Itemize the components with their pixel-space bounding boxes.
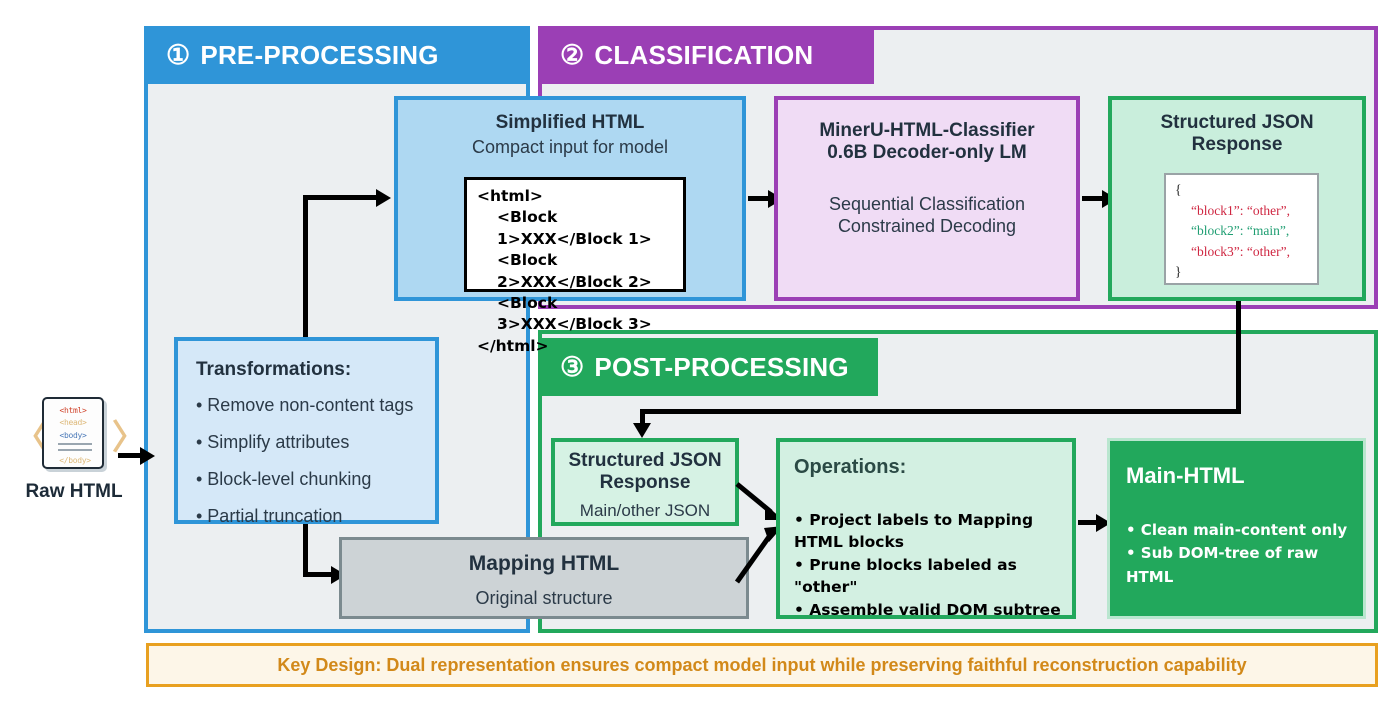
json-title-line2: Response <box>1112 134 1362 156</box>
json-value: “main”, <box>1247 223 1289 238</box>
connector-transform-to-simplified-arrowhead <box>376 189 391 207</box>
transformations-item: • Remove non-content tags <box>196 395 419 416</box>
section-number-icon: ① <box>166 42 190 69</box>
operations-item: • Prune blocks labeled as "other" <box>794 554 1062 599</box>
raw-doc-line-head: <head> <box>44 417 102 429</box>
json-line: “block2”: “main”, <box>1175 221 1311 242</box>
json-key: “block1”: <box>1191 203 1243 218</box>
raw-html-label: Raw HTML <box>12 481 136 503</box>
code-line: </html> <box>477 336 675 357</box>
simplified-html-code-block: <html> <Block 1>XXX</Block 1> <Block 2>X… <box>464 177 686 292</box>
json-line-open-brace: { <box>1175 180 1311 201</box>
raw-doc-rule-1 <box>58 443 92 445</box>
mapping-html-subtitle: Original structure <box>342 588 746 610</box>
code-line: <html> <box>477 186 675 207</box>
transformations-item: • Simplify attributes <box>196 432 419 453</box>
operations-card: Operations: • Project labels to Mapping … <box>776 438 1076 619</box>
operations-item: • Assemble valid DOM subtree <box>794 599 1062 621</box>
operations-item: • Project labels to Mapping HTML blocks <box>794 509 1062 554</box>
json-line: “block3”: “other”, <box>1175 242 1311 263</box>
operations-title: Operations: <box>794 456 1062 479</box>
code-line: <Block 1>XXX</Block 1> <box>477 207 675 250</box>
simplified-html-title: Simplified HTML <box>398 112 742 134</box>
json-key: “block2”: <box>1191 223 1243 238</box>
connector-transform-to-mapping-vertical <box>303 524 308 577</box>
section-title-pre: PRE-PROCESSING <box>200 40 438 71</box>
section-header-classification: ② CLASSIFICATION <box>538 26 874 84</box>
raw-doc-rule-2 <box>58 449 92 451</box>
section-header-pre-processing: ① PRE-PROCESSING <box>144 26 530 84</box>
classifier-subtitle-line1: Sequential Classification <box>778 194 1076 216</box>
classifier-title-line2: 0.6B Decoder-only LM <box>778 142 1076 164</box>
classifier-subtitle-line2: Constrained Decoding <box>778 216 1076 238</box>
connector-json-to-post-horizontal <box>640 409 1241 414</box>
transformations-item: • Block-level chunking <box>196 469 419 490</box>
connector-transform-to-simplified-vertical <box>303 195 308 337</box>
json-value: “other”, <box>1247 203 1290 218</box>
simplified-html-card: Simplified HTML Compact input for model … <box>394 96 746 301</box>
main-html-list: • Clean main-content only • Sub DOM-tree… <box>1126 519 1353 589</box>
section-title-classification: CLASSIFICATION <box>594 40 813 71</box>
classifier-title-line1: MinerU-HTML-Classifier <box>778 120 1076 142</box>
json-title-line1: Structured JSON <box>1112 112 1362 134</box>
transformations-title: Transformations: <box>196 359 419 381</box>
json-key: “block3”: <box>1191 244 1243 259</box>
structured-json-response-post-card: Structured JSON Response Main/other JSON <box>551 438 739 526</box>
main-html-card: Main-HTML • Clean main-content only • Su… <box>1107 438 1366 619</box>
raw-doc-line-body: <body> <box>44 430 102 442</box>
diagram-canvas: ① PRE-PROCESSING ② CLASSIFICATION ③ POST… <box>0 0 1386 709</box>
classifier-card: MinerU-HTML-Classifier 0.6B Decoder-only… <box>774 96 1080 301</box>
transformations-card: Transformations: • Remove non-content ta… <box>174 337 439 524</box>
json2-title-line2: Response <box>555 472 735 494</box>
main-html-item: • Clean main-content only <box>1126 519 1353 542</box>
json-value: “other”, <box>1247 244 1290 259</box>
connector-json-to-post-arrowhead <box>633 423 651 438</box>
code-line: <Block 3>XXX</Block 3> <box>477 293 675 336</box>
main-html-item: • Sub DOM-tree of raw HTML <box>1126 542 1353 589</box>
operations-list: • Project labels to Mapping HTML blocks … <box>794 509 1062 621</box>
mapping-html-title: Mapping HTML <box>342 552 746 576</box>
connector-transform-to-mapping-horizontal <box>303 572 333 577</box>
json2-subtitle: Main/other JSON <box>555 501 735 521</box>
raw-doc-line-html: <html> <box>44 405 102 417</box>
structured-json-response-card: Structured JSON Response { “block1”: “ot… <box>1108 96 1366 301</box>
json2-title-line1: Structured JSON <box>555 450 735 472</box>
connector-raw-to-pre-arrowhead <box>140 447 155 465</box>
key-design-text: Key Design: Dual representation ensures … <box>277 655 1246 676</box>
raw-doc-line-body-close: </body> <box>44 455 106 467</box>
connector-json-to-post-vertical <box>1236 301 1241 413</box>
section-number-icon: ② <box>560 42 584 69</box>
section-number-icon: ③ <box>560 354 584 381</box>
connector-raw-to-pre <box>118 453 142 458</box>
code-line: <Block 2>XXX</Block 2> <box>477 250 675 293</box>
json-line-close-brace: } <box>1175 262 1311 283</box>
raw-html-document-icon: <html> <head> <body> </body> <box>42 397 104 469</box>
key-design-banner: Key Design: Dual representation ensures … <box>146 643 1378 687</box>
mapping-html-card: Mapping HTML Original structure <box>339 537 749 619</box>
simplified-html-subtitle: Compact input for model <box>398 137 742 159</box>
json-code-block: { “block1”: “other”, “block2”: “main”, “… <box>1164 173 1319 285</box>
connector-transform-to-simplified-horizontal <box>303 195 378 200</box>
json-line: “block1”: “other”, <box>1175 201 1311 222</box>
main-html-title: Main-HTML <box>1126 463 1353 489</box>
